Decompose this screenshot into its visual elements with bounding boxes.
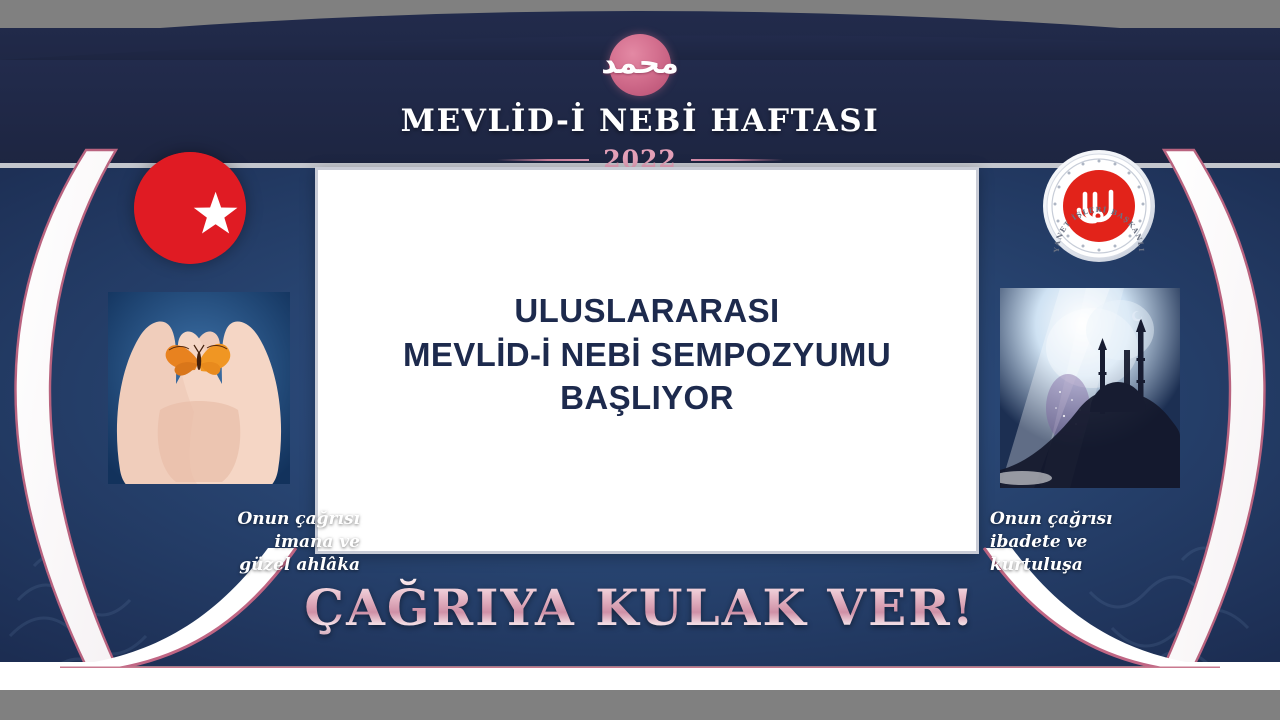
announcement-card: ULUSLARARASI MEVLİD-İ NEBİ SEMPOZYUMU BA… xyxy=(315,167,979,554)
headline-line-1: ULUSLARARASI xyxy=(403,289,891,333)
caption-right-line-3: kurtuluşa xyxy=(990,554,1190,577)
caption-left: Onun çağrısı imana ve güzel ahlâka xyxy=(150,508,360,577)
turkish-flag-circle xyxy=(134,152,246,264)
poster-root: محمد MEVLİD-İ NEBİ HAFTASI 2022 xyxy=(0,0,1280,720)
diyanet-seal-icon: DİYANET İŞLERİ BAŞKANLIĞI xyxy=(1041,148,1157,264)
diyanet-isleri-baskanligi-seal: DİYANET İŞLERİ BAŞKANLIĞI xyxy=(1041,148,1157,264)
caption-right-line-2: ibadete ve xyxy=(990,531,1190,554)
poster-slogan: ÇAĞRIYA KULAK VER! xyxy=(0,578,1280,637)
turkish-flag-icon xyxy=(134,152,246,264)
caption-left-line-1: Onun çağrısı xyxy=(150,508,360,531)
announcement-headline: ULUSLARARASI MEVLİD-İ NEBİ SEMPOZYUMU BA… xyxy=(385,289,909,420)
headline-line-2: MEVLİD-İ NEBİ SEMPOZYUMU xyxy=(403,333,891,377)
caption-right: Onun çağrısı ibadete ve kurtuluşa xyxy=(990,508,1190,577)
mosque-silhouette-moonlight-photo xyxy=(992,288,1180,488)
caption-left-line-2: imana ve xyxy=(150,531,360,554)
caption-left-line-3: güzel ahlâka xyxy=(150,554,360,577)
caption-right-line-1: Onun çağrısı xyxy=(990,508,1190,531)
hands-holding-butterfly-photo xyxy=(108,292,290,492)
headline-line-3: BAŞLIYOR xyxy=(403,376,891,420)
